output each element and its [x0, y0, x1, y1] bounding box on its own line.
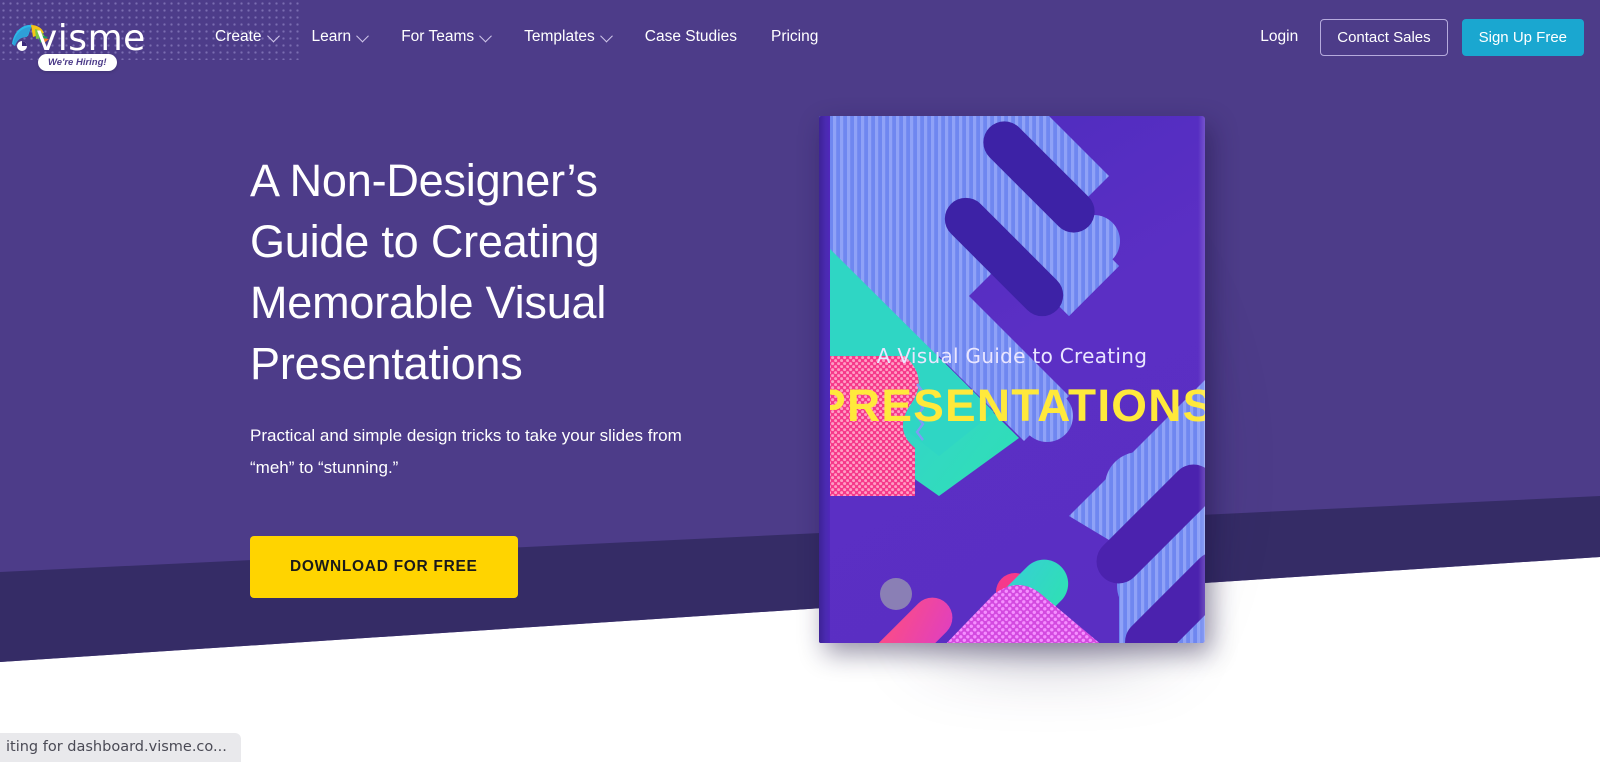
page-root: visme We're Hiring! Create Learn For Tea…	[0, 0, 1600, 762]
nav-label: Create	[215, 28, 262, 46]
main-navigation: Create Learn For Teams Templates Case St…	[198, 18, 835, 56]
site-header: visme We're Hiring! Create Learn For Tea…	[0, 0, 1600, 74]
hero-content: A Non-Designer’s Guide to Creating Memor…	[250, 150, 720, 598]
nav-label: Templates	[524, 28, 595, 46]
nav-label: Pricing	[771, 28, 818, 46]
nav-label: Case Studies	[645, 28, 737, 46]
chevron-down-icon	[267, 29, 280, 42]
book-headline: PRESENTATIONS	[819, 380, 1205, 432]
sign-up-free-button[interactable]: Sign Up Free	[1462, 19, 1584, 56]
book-edge-highlight	[1198, 116, 1205, 643]
browser-status-bar: iting for dashboard.visme.co...	[0, 733, 241, 762]
book-title-block: A Visual Guide to Creating PRESENTATIONS	[819, 344, 1205, 432]
ebook-cover-image[interactable]: A Visual Guide to Creating PRESENTATIONS	[819, 116, 1205, 643]
login-link[interactable]: Login	[1252, 22, 1306, 52]
chevron-down-icon	[600, 29, 613, 42]
book-spine	[819, 116, 830, 643]
hero-subtitle: Practical and simple design tricks to ta…	[250, 420, 720, 484]
nav-item-learn[interactable]: Learn	[295, 18, 385, 56]
download-for-free-button[interactable]: DOWNLOAD FOR FREE	[250, 536, 518, 598]
book-kicker: A Visual Guide to Creating	[819, 344, 1205, 368]
nav-item-create[interactable]: Create	[198, 18, 295, 56]
hiring-badge[interactable]: We're Hiring!	[38, 54, 117, 71]
nav-item-for-teams[interactable]: For Teams	[384, 18, 507, 56]
nav-label: For Teams	[401, 28, 474, 46]
nav-label: Learn	[312, 28, 352, 46]
page-title: A Non-Designer’s Guide to Creating Memor…	[250, 150, 720, 394]
chevron-down-icon	[356, 29, 369, 42]
chevron-down-icon	[479, 29, 492, 42]
logo-wordmark: visme	[36, 18, 146, 59]
hero-background	[0, 0, 1600, 700]
nav-item-pricing[interactable]: Pricing	[754, 18, 835, 56]
nav-item-templates[interactable]: Templates	[507, 18, 628, 56]
nav-item-case-studies[interactable]: Case Studies	[628, 18, 754, 56]
contact-sales-button[interactable]: Contact Sales	[1320, 19, 1447, 56]
header-actions: Login Contact Sales Sign Up Free	[1252, 19, 1584, 56]
logo[interactable]: visme We're Hiring!	[8, 0, 168, 74]
